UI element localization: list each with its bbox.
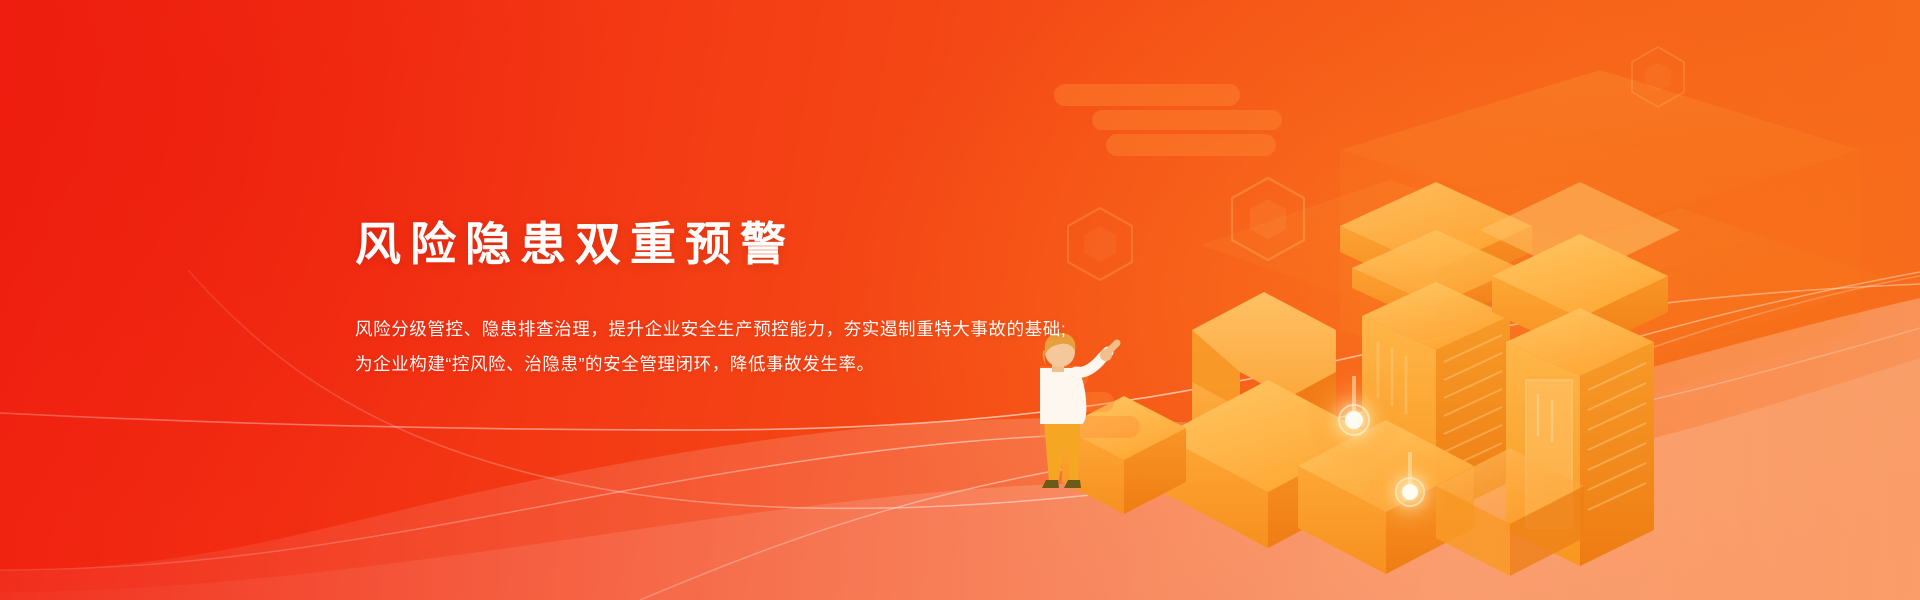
person-pants xyxy=(1044,422,1080,482)
banner-copy: 风险隐患双重预警 风险分级管控、隐患排查治理，提升企业安全生产预控能力，夯实遏制… xyxy=(355,215,1255,382)
subtitle-line-1: 风险分级管控、隐患排查治理，提升企业安全生产预控能力，夯实遏制重特大事故的基础; xyxy=(355,312,1255,347)
cloud-top xyxy=(1054,84,1282,156)
person-shoe-left xyxy=(1042,480,1059,488)
isometric-tower-right xyxy=(1480,182,1680,566)
banner-subtitle: 风险分级管控、隐患排查治理，提升企业安全生产预控能力，夯实遏制重特大事故的基础;… xyxy=(355,274,1255,382)
isometric-tower-stack xyxy=(1340,182,1532,518)
glow-lamp-lower xyxy=(1364,446,1456,538)
person-shoe-right xyxy=(1064,480,1081,488)
tower-panel xyxy=(1526,380,1572,528)
hexagon-outline-tiny xyxy=(1632,47,1684,107)
wave-fill-upper xyxy=(0,358,1920,600)
page-title: 风险隐患双重预警 xyxy=(355,215,1255,274)
ghost-slabs xyxy=(1200,70,1890,410)
subtitle-line-2: 为企业构建“控风险、治隐患”的安全管理闭环，降低事故发生率。 xyxy=(355,347,1255,382)
glow-lamp-upper xyxy=(1304,370,1404,470)
isometric-small-box xyxy=(1062,396,1186,514)
isometric-block-group xyxy=(1162,380,1584,576)
hero-banner: 风险隐患双重预警 风险分级管控、隐患排查治理，提升企业安全生产预控能力，夯实遏制… xyxy=(0,0,1920,600)
